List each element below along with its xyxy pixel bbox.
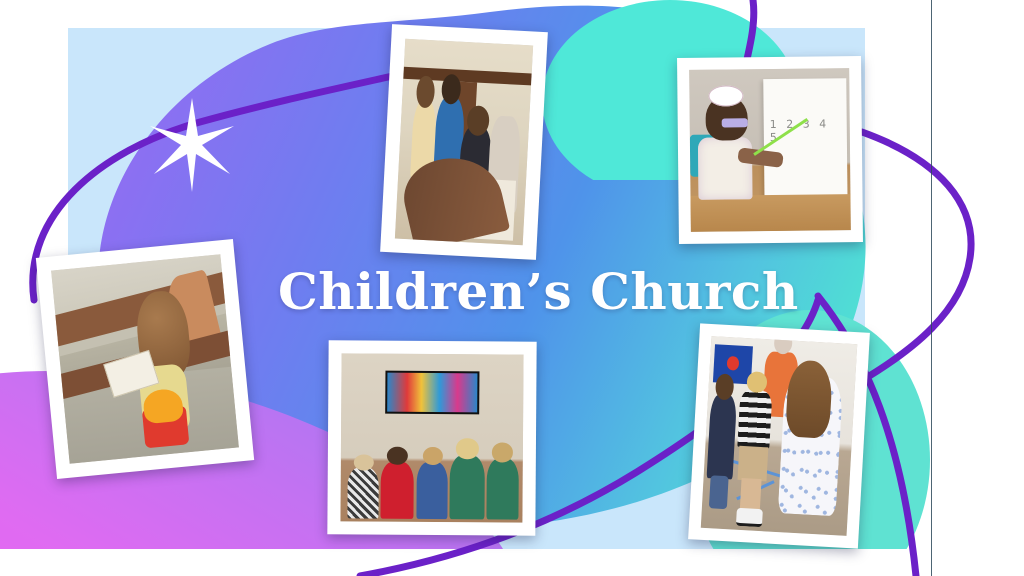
photo-frame-walking[interactable]: [688, 323, 870, 548]
photo-image-walking: [701, 336, 857, 536]
slide-guide-line: [931, 0, 932, 576]
photo-frame-kids-room[interactable]: [380, 24, 548, 260]
purple-ribbon-right: [862, 132, 971, 378]
slide-canvas: Children’s Church: [0, 0, 1024, 576]
photo-frame-pews[interactable]: [36, 239, 254, 479]
photo-frame-whiteboard[interactable]: 1 2 3 4 5: [677, 56, 863, 244]
page-title: Children’s Church: [278, 262, 799, 321]
photo-image-whiteboard: 1 2 3 4 5: [689, 68, 851, 232]
photo-image-pews: [51, 254, 239, 463]
photo-image-kids-room: [395, 39, 533, 245]
star-sparkle: [150, 98, 234, 192]
photo-frame-tv[interactable]: [327, 340, 536, 535]
photo-image-tv: [340, 353, 523, 522]
